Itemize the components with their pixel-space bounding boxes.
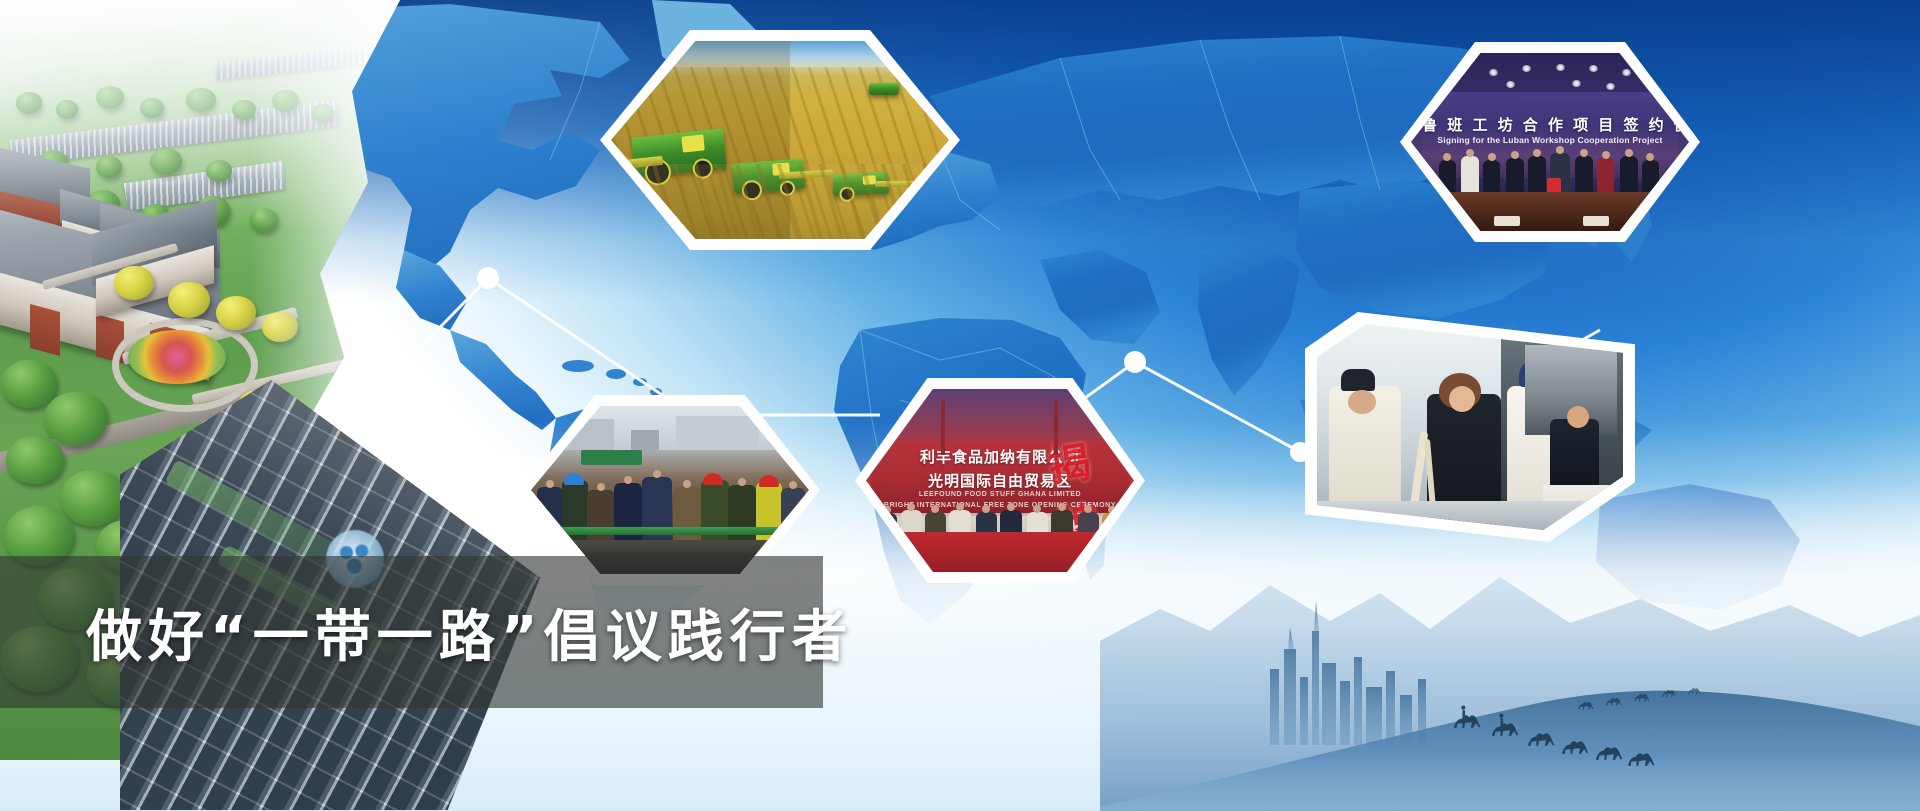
- hero-banner-image: 鲁 班 工 坊 合 作 项 目 签 约 仪 式 Signing for the …: [0, 0, 1920, 811]
- luban-title-en: Signing for the Luban Workshop Cooperati…: [1422, 135, 1678, 145]
- title-overlay-banner: 做好“一带一路”倡议践行者: [0, 556, 823, 708]
- photo-card-culinary-exchange[interactable]: [1305, 312, 1635, 542]
- page-title: 做好“一带一路”倡议践行者: [86, 592, 854, 673]
- luban-title-cn: 鲁 班 工 坊 合 作 项 目 签 约 仪 式: [1422, 114, 1678, 135]
